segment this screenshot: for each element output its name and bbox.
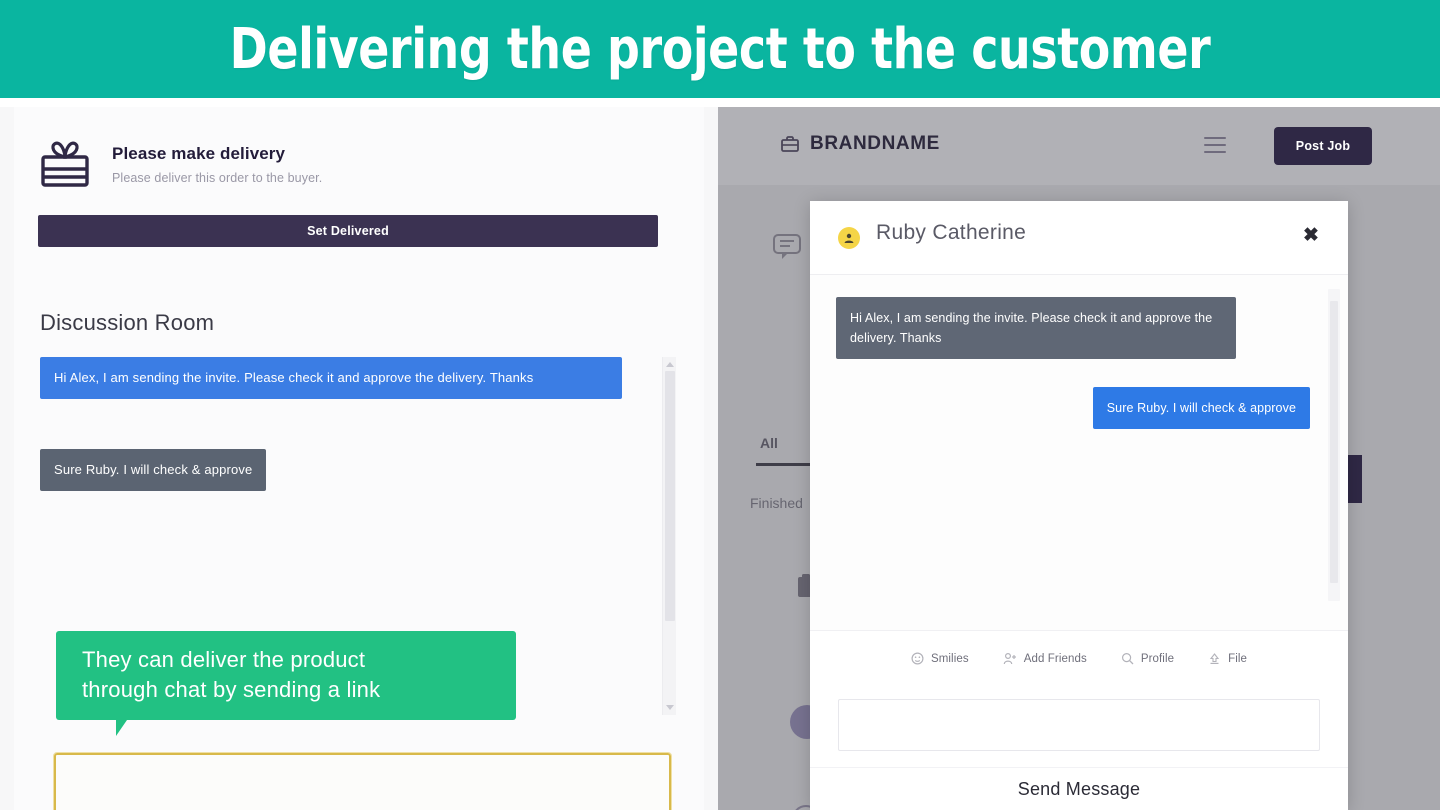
discussion-messages: Hi Alex, I am sending the invite. Please… <box>40 357 658 615</box>
scroll-up-arrow-icon[interactable] <box>666 362 674 367</box>
set-delivered-button[interactable]: Set Delivered <box>38 215 658 247</box>
close-icon[interactable]: ✖ <box>1298 223 1324 249</box>
banner-title: Delivering the project to the customer <box>230 17 1211 82</box>
scroll-down-arrow-icon[interactable] <box>666 705 674 710</box>
chat-bubble-reply: Sure Ruby. I will check & approve <box>40 449 266 491</box>
discussion-scrollbar[interactable] <box>662 357 676 715</box>
action-smilies[interactable]: Smilies <box>911 652 969 665</box>
modal-header: Ruby Catherine ✖ <box>810 201 1348 275</box>
modal-action-bar: Smilies Add Friends <box>810 630 1348 686</box>
delivery-heading: Please make delivery <box>112 144 322 164</box>
callout-tail <box>116 720 138 736</box>
stage: Please make delivery Please deliver this… <box>0 98 1440 810</box>
callout-tooltip: They can deliver the product through cha… <box>56 631 516 720</box>
user-avatar-icon <box>838 227 860 249</box>
right-panel: BRANDNAME Post Job All Finished <box>718 107 1440 810</box>
modal-message-list: Hi Alex, I am sending the invite. Please… <box>810 275 1348 630</box>
delivery-card: Please make delivery Please deliver this… <box>14 107 704 810</box>
brand[interactable]: BRANDNAME <box>780 133 940 155</box>
left-panel: Please make delivery Please deliver this… <box>0 107 718 810</box>
delivery-subtext: Please deliver this order to the buyer. <box>112 171 322 185</box>
modal-bubble-incoming: Hi Alex, I am sending the invite. Please… <box>836 297 1236 359</box>
briefcase-icon <box>780 134 800 154</box>
callout-line-2: through chat by sending a link <box>82 675 498 705</box>
action-label: Smilies <box>931 653 969 665</box>
label-finished: Finished <box>750 495 803 511</box>
brand-name: BRANDNAME <box>810 133 940 155</box>
modal-message-input[interactable] <box>838 699 1320 751</box>
action-label: Profile <box>1141 653 1174 665</box>
scrollbar-thumb[interactable] <box>665 371 675 621</box>
modal-send-message-button[interactable]: Send Message <box>810 767 1348 810</box>
hamburger-icon[interactable] <box>1204 137 1226 153</box>
action-file[interactable]: File <box>1208 652 1247 665</box>
chat-bubble-icon[interactable] <box>772 233 802 261</box>
top-navigation-bar: BRANDNAME Post Job <box>718 107 1440 185</box>
discussion-room-title: Discussion Room <box>40 310 214 336</box>
modal-scrollbar[interactable] <box>1328 289 1340 601</box>
delivery-header: Please make delivery Please deliver this… <box>38 139 322 189</box>
action-profile[interactable]: Profile <box>1121 652 1174 665</box>
modal-scrollbar-thumb[interactable] <box>1330 301 1338 583</box>
action-label: File <box>1228 653 1247 665</box>
chat-modal: Ruby Catherine ✖ Hi Alex, I am sending t… <box>810 201 1348 810</box>
edge-tab-handle[interactable] <box>1346 455 1362 503</box>
search-icon <box>1121 652 1134 665</box>
action-label: Add Friends <box>1024 653 1087 665</box>
message-input[interactable] <box>54 753 671 810</box>
tab-all[interactable]: All <box>760 435 778 451</box>
smiley-icon <box>911 652 924 665</box>
gift-icon <box>38 139 92 189</box>
upload-file-icon <box>1208 652 1221 665</box>
screenshot-root: Delivering the project to the customer P… <box>0 0 1440 810</box>
action-add-friends[interactable]: Add Friends <box>1003 652 1087 665</box>
post-job-button[interactable]: Post Job <box>1274 127 1372 165</box>
modal-bubble-outgoing: Sure Ruby. I will check & approve <box>1093 387 1310 429</box>
modal-title: Ruby Catherine <box>876 221 1026 245</box>
chat-bubble-incoming: Hi Alex, I am sending the invite. Please… <box>40 357 622 399</box>
banner: Delivering the project to the customer <box>0 0 1440 98</box>
callout-line-1: They can deliver the product <box>82 645 498 675</box>
add-friend-icon <box>1003 652 1017 665</box>
delivery-text-block: Please make delivery Please deliver this… <box>112 144 322 185</box>
